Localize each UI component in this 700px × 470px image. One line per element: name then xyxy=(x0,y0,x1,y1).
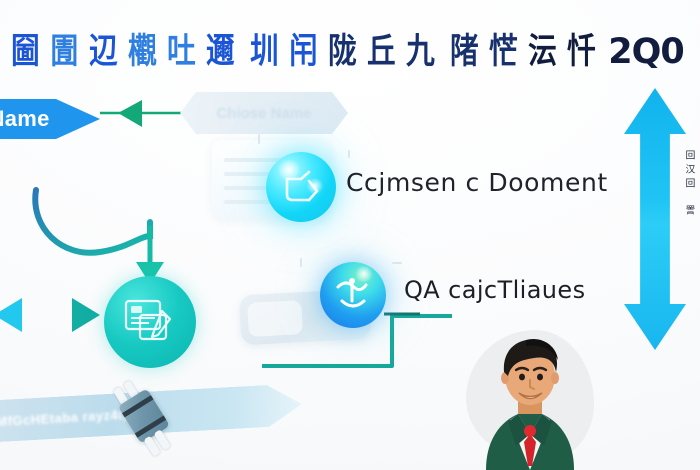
document-pen-icon xyxy=(124,297,176,347)
blue-sphere-icon[interactable] xyxy=(320,262,386,328)
side-glyph: 詈 xyxy=(685,206,695,216)
decor-tick xyxy=(348,150,350,158)
connector-device-icon xyxy=(105,373,191,461)
title-glyph: 丘 xyxy=(367,35,395,70)
title-glyph: 闬 xyxy=(289,35,317,70)
title-glyph: 恾 xyxy=(489,35,517,70)
side-glyph: 回 xyxy=(685,179,695,189)
title-glyph: 陇 xyxy=(328,35,356,70)
qa-candidates-label: QA cajcTliaues xyxy=(404,276,586,304)
decor-tick xyxy=(258,134,260,144)
cyan-orb-glyph xyxy=(266,152,336,222)
infographic-canvas: 圙 圊 辺 欟 吐 邇 圳 闬 陇 丘 九 陼 恾 沄 忏 2Q0 迗 隹 氺 xyxy=(0,0,700,470)
decor-tick xyxy=(300,258,302,267)
title-glyph: 沄 xyxy=(528,35,556,70)
title-glyph: 吐 xyxy=(167,35,195,70)
document-orb-icon[interactable] xyxy=(104,276,196,368)
horizontal-double-arrow xyxy=(0,298,100,332)
title-glyph: 邇 xyxy=(206,35,234,70)
compare-document-label: Ccjmsen c Dooment xyxy=(346,168,608,197)
page-title: 圙 圊 辺 欟 吐 邇 圳 闬 陇 丘 九 陼 恾 沄 忏 2Q0 迗 隹 氺 xyxy=(8,26,692,78)
green-left-arrow xyxy=(100,100,186,127)
title-glyph: 圙 xyxy=(11,35,39,70)
decor-tick xyxy=(392,262,402,264)
title-glyph: 圊 xyxy=(50,35,78,70)
blue-orb-glyph xyxy=(320,262,386,328)
data-name-label: ta Name xyxy=(0,106,50,132)
title-glyph: 陼 xyxy=(450,35,478,70)
choose-name-label: Chiose Name xyxy=(216,105,311,122)
title-glyph: 九 xyxy=(406,35,434,70)
title-glyph: 忏 xyxy=(567,35,595,70)
data-name-banner[interactable]: ta Name xyxy=(0,96,100,142)
title-glyph: 圳 xyxy=(250,35,278,70)
vertical-side-text: 回 汉 回 詈 xyxy=(683,150,697,260)
title-glyph: 辺 xyxy=(89,35,117,70)
curved-down-arrow xyxy=(35,190,164,284)
avatar-illustration xyxy=(466,330,594,470)
choose-name-banner[interactable]: Chiose Name xyxy=(180,92,348,134)
side-glyph: 回 xyxy=(685,151,695,161)
title-glyph: 欟 xyxy=(128,35,156,70)
presenter-avatar xyxy=(466,330,594,470)
cyan-sphere-icon[interactable] xyxy=(266,152,336,222)
side-glyph: 汉 xyxy=(685,165,695,175)
vertical-double-arrow[interactable] xyxy=(624,88,686,350)
title-number: 2Q0 xyxy=(608,35,683,70)
